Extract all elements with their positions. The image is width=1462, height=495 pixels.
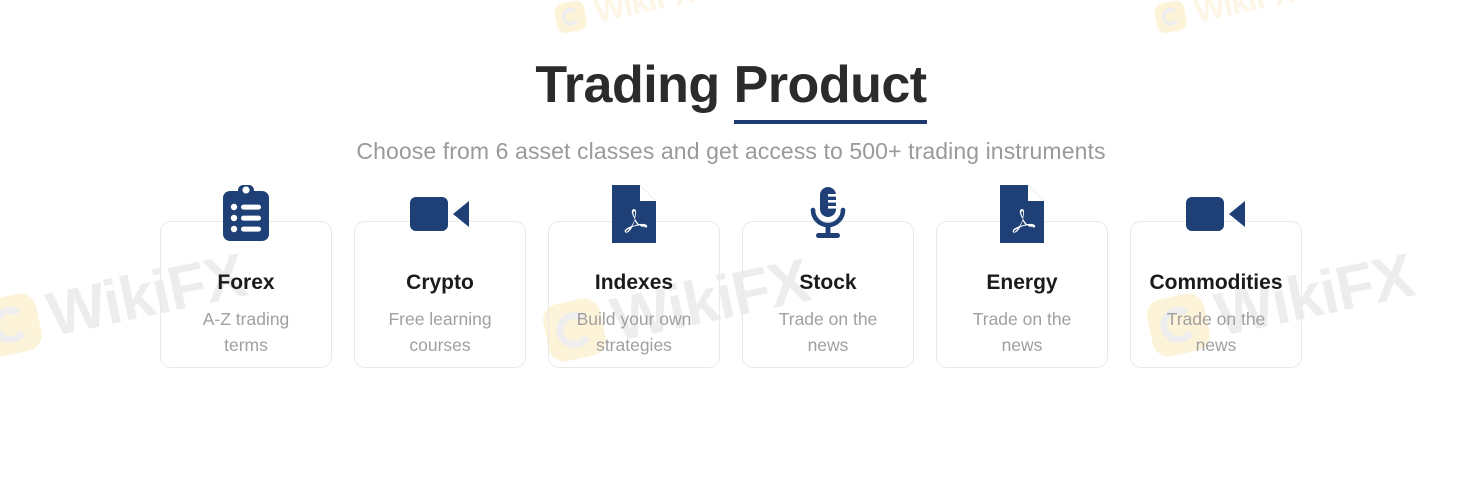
pdf-file-icon <box>603 183 665 245</box>
video-camera-icon <box>1185 183 1247 245</box>
asset-card-title: Stock <box>799 272 856 293</box>
asset-card-commodities[interactable]: Commodities Trade on the news <box>1130 221 1302 368</box>
asset-card-indexes[interactable]: Indexes Build your own strategies <box>548 221 720 368</box>
asset-card-title: Energy <box>986 272 1057 293</box>
asset-card-title: Indexes <box>595 272 673 293</box>
asset-card-forex[interactable]: Forex A-Z trading terms <box>160 221 332 368</box>
asset-card-crypto[interactable]: Crypto Free learning courses <box>354 221 526 368</box>
page-title: Trading Product <box>0 0 1462 116</box>
asset-card-description: Trade on the news <box>957 306 1087 359</box>
asset-card-description: Trade on the news <box>763 306 893 359</box>
asset-card-description: A-Z trading terms <box>181 306 311 359</box>
clipboard-list-icon <box>215 183 277 245</box>
pdf-file-icon <box>991 183 1053 245</box>
asset-card-title: Commodities <box>1149 272 1282 293</box>
page-subtitle: Choose from 6 asset classes and get acce… <box>0 138 1462 165</box>
trading-product-section: WikiFX WikiFX WikiFX WikiFX WikiFX Tradi… <box>0 0 1462 495</box>
asset-card-stock[interactable]: Stock Trade on the news <box>742 221 914 368</box>
asset-card-title: Crypto <box>406 272 474 293</box>
asset-class-card-row: Forex A-Z trading terms Crypto Free lear… <box>0 221 1462 368</box>
video-camera-icon <box>409 183 471 245</box>
asset-card-energy[interactable]: Energy Trade on the news <box>936 221 1108 368</box>
microphone-icon <box>797 183 859 245</box>
page-title-plain: Trading <box>535 56 733 114</box>
asset-card-description: Trade on the news <box>1151 306 1281 359</box>
page-title-accent: Product <box>734 56 927 124</box>
asset-card-description: Free learning courses <box>375 306 505 359</box>
asset-card-description: Build your own strategies <box>569 306 699 359</box>
asset-card-title: Forex <box>217 272 274 293</box>
